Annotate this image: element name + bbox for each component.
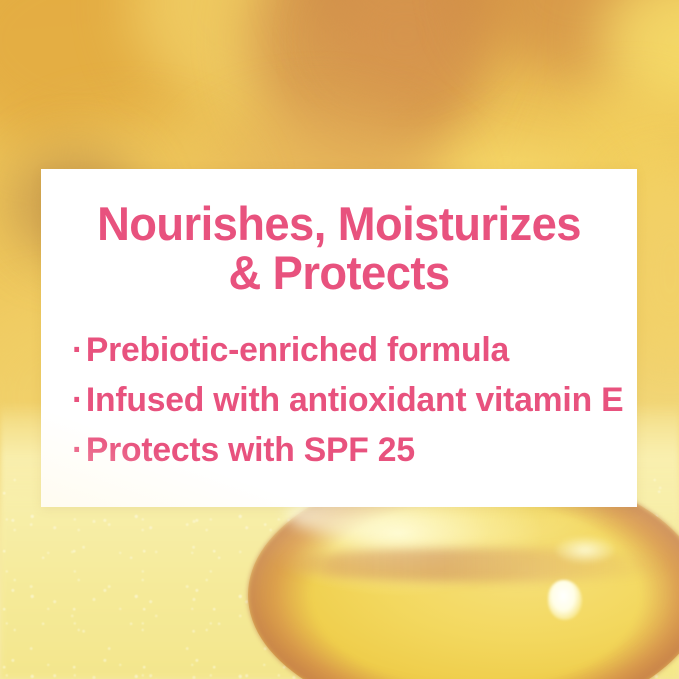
list-item: · Protects with SPF 25: [72, 425, 631, 475]
benefit-text: Protects with SPF 25: [86, 425, 415, 475]
page-title: Nourishes, Moisturizes & Protects: [51, 199, 626, 297]
capsule-specular-highlight: [548, 580, 582, 620]
bullet-dot-icon: ·: [72, 425, 86, 475]
benefit-text: Infused with antioxidant vitamin E: [86, 375, 623, 425]
list-item: · Prebiotic-enriched formula: [72, 325, 631, 375]
list-item: · Infused with antioxidant vitamin E: [72, 375, 631, 425]
benefit-text: Prebiotic-enriched formula: [86, 325, 509, 375]
bullet-dot-icon: ·: [72, 325, 86, 375]
product-benefit-graphic: Nourishes, Moisturizes & Protects · Preb…: [0, 0, 679, 679]
bullet-dot-icon: ·: [72, 375, 86, 425]
benefits-card-content: Nourishes, Moisturizes & Protects · Preb…: [41, 169, 637, 507]
benefits-card: Nourishes, Moisturizes & Protects · Preb…: [41, 169, 637, 507]
benefits-list: · Prebiotic-enriched formula · Infused w…: [41, 325, 637, 475]
capsule-specular-streak: [556, 537, 614, 563]
headline-line-1: Nourishes, Moisturizes: [77, 199, 602, 248]
headline-line-2: & Protects: [77, 248, 602, 297]
